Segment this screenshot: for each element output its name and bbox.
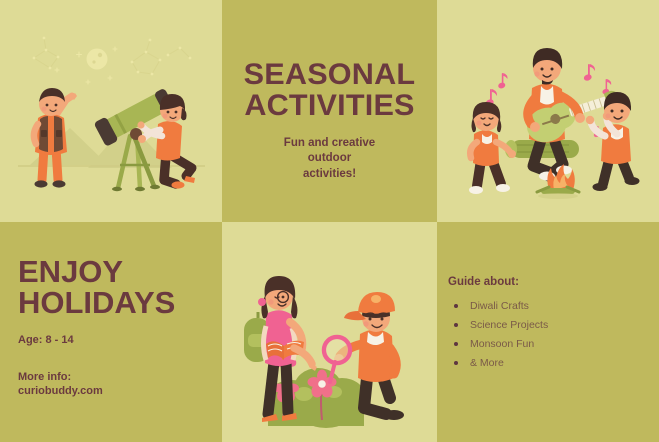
guide-block: Guide about: Diwali Crafts Science Proje… [448,276,548,376]
list-item: Monsoon Fun [448,338,548,350]
guide-list: Diwali Crafts Science Projects Monsoon F… [448,300,548,369]
stargazing-illustration [0,0,222,222]
page-subtitle: Fun and creative outdoor activities! [222,136,437,183]
promo-heading: ENJOY HOLIDAYS [18,256,278,318]
page-title: SEASONAL ACTIVITIES [222,60,437,122]
list-item: Science Projects [448,319,548,331]
panel-campfire [437,0,659,222]
title-block: SEASONAL ACTIVITIES Fun and creative out… [222,60,437,182]
panel-guide: Guide about: Diwali Crafts Science Proje… [437,222,659,442]
list-item: Diwali Crafts [448,300,548,312]
age-range: Age: 8 - 14 [18,334,278,346]
poster: SEASONAL ACTIVITIES Fun and creative out… [0,0,659,442]
panel-stargazing [0,0,222,222]
list-item: & More [448,357,548,369]
guide-heading: Guide about: [448,276,548,288]
promo-block: ENJOY HOLIDAYS Age: 8 - 14 More info: cu… [18,256,278,399]
more-info: More info: curiobuddy.com [18,370,278,399]
panel-title: SEASONAL ACTIVITIES Fun and creative out… [222,0,437,222]
campfire-illustration [437,0,659,222]
